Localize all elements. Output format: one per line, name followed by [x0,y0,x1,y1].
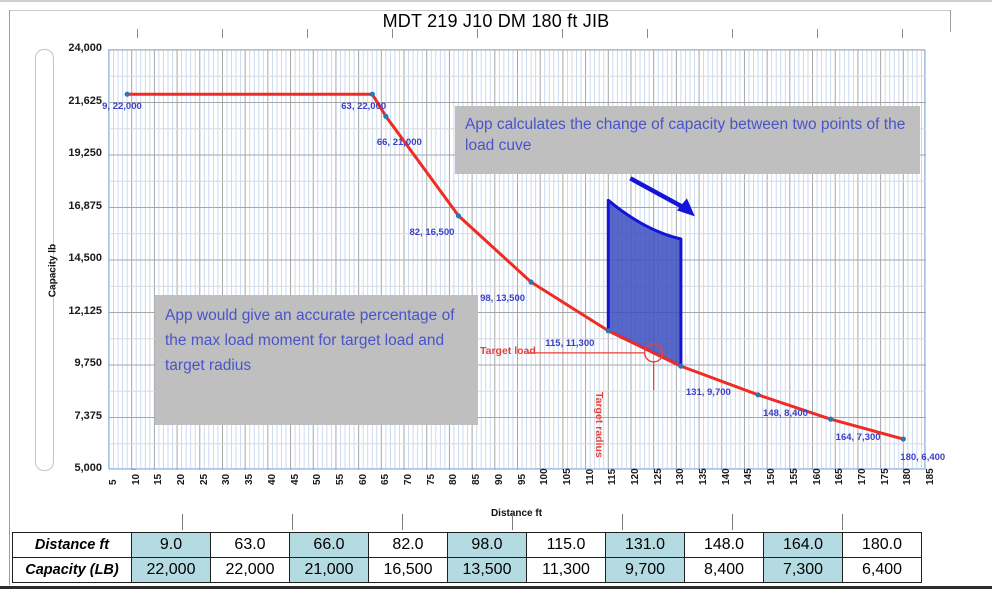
y-axis-tick-label: 21,625 [32,95,102,107]
table-cell: 164.0 [764,533,843,558]
x-axis-tick-label: 50 [312,459,323,485]
table-column-tick [182,514,183,530]
table-cell: 148.0 [685,533,764,558]
data-point-label: 131, 9,700 [686,387,731,398]
y-axis-tick-label: 5,000 [32,462,102,474]
table-column-tick [402,514,403,530]
table-column-tick [292,514,293,530]
x-axis-tick-label: 75 [426,459,437,485]
table-cell: 9,700 [606,558,685,583]
x-axis-tick-label: 150 [766,459,777,485]
x-axis-tick-label: 55 [335,459,346,485]
data-point-label: 82, 16,500 [409,227,454,238]
x-axis-tick-label: 85 [471,459,482,485]
table-cell: 9.0 [132,533,211,558]
callout-percentage: App would give an accurate percentage of… [155,295,478,425]
top-ruler-tick [307,29,308,38]
table-cell: 22,000 [211,558,290,583]
top-ruler-tick [137,29,138,38]
load-chart: MDT 219 J10 DM 180 ft JIB Capacity lb 24… [0,2,992,522]
x-axis-tick-label: 170 [857,459,868,485]
data-point-label: 180, 6,400 [900,452,945,463]
top-ruler-tick [562,29,563,38]
table-column-tick [512,514,513,530]
x-axis-tick-label: 140 [721,459,732,485]
data-table-wrapper: Distance ft9.063.066.082.098.0115.0131.0… [12,532,922,582]
table-cell: 115.0 [527,533,606,558]
x-axis-tick-label: 125 [653,459,664,485]
data-point-label: 164, 7,300 [836,432,881,443]
table-column-tick [622,514,623,530]
table-row: Capacity (LB)22,00022,00021,00016,50013,… [13,558,922,583]
x-axis-tick-label: 160 [812,459,823,485]
x-axis-labels: 5101520253035404550556065707580859095100… [108,472,925,506]
x-axis-tick-label: 5 [108,459,119,485]
y-axis-tick-label: 9,750 [32,357,102,369]
table-cell: 8,400 [685,558,764,583]
x-axis-tick-label: 120 [630,459,641,485]
x-axis-tick-label: 145 [743,459,754,485]
table-cell: 7,300 [764,558,843,583]
top-ruler-tick [647,29,648,38]
table-cell: 16,500 [369,558,448,583]
table-row-header: Distance ft [13,533,132,558]
x-axis-tick-label: 60 [358,459,369,485]
table-cell: 21,000 [290,558,369,583]
x-axis-tick-label: 110 [585,459,596,485]
x-axis-title: Distance ft [108,508,925,519]
table-column-tick [732,514,733,530]
table-cell: 180.0 [843,533,922,558]
x-axis-tick-label: 10 [131,459,142,485]
target-load-label: Target load [480,345,536,357]
window-frame: MDT 219 J10 DM 180 ft JIB Capacity lb 24… [0,0,992,589]
table-cell: 13,500 [448,558,527,583]
x-axis-tick-label: 20 [176,459,187,485]
top-ruler-tick [222,29,223,38]
top-ruler-tick [392,29,393,38]
table-cell: 11,300 [527,558,606,583]
y-axis-tick-label: 16,875 [32,200,102,212]
x-axis-tick-label: 175 [880,459,891,485]
data-point-label: 115, 11,300 [545,338,594,349]
x-axis-tick-label: 15 [153,459,164,485]
x-axis-tick-label: 100 [539,459,550,485]
target-radius-label: Target radius [593,392,605,462]
chart-title: MDT 219 J10 DM 180 ft JIB [0,11,992,32]
y-axis-tick-label: 19,250 [32,147,102,159]
data-point-label: 63, 22,000 [341,101,386,112]
data-point-label: 66, 21,000 [377,137,422,148]
table-row: Distance ft9.063.066.082.098.0115.0131.0… [13,533,922,558]
capacity-table: Distance ft9.063.066.082.098.0115.0131.0… [12,532,922,583]
y-axis-tick-label: 7,375 [32,410,102,422]
top-ruler-tick [732,29,733,38]
table-cell: 131.0 [606,533,685,558]
data-point-label: 98, 13,500 [480,293,525,304]
callout-capacity-change: App calculates the change of capacity be… [455,106,920,174]
y-axis-tick-label: 12,125 [32,305,102,317]
table-cell: 82.0 [369,533,448,558]
table-row-header: Capacity (LB) [13,558,132,583]
x-axis-tick-label: 30 [221,459,232,485]
x-axis-tick-label: 25 [199,459,210,485]
x-axis-tick-label: 95 [517,459,528,485]
table-cell: 63.0 [211,533,290,558]
top-ruler-tick [817,29,818,38]
x-axis-tick-label: 35 [244,459,255,485]
x-axis-tick-label: 155 [789,459,800,485]
y-axis-tick-label: 24,000 [32,42,102,54]
x-axis-tick-label: 90 [494,459,505,485]
table-cell: 22,000 [132,558,211,583]
x-axis-tick-label: 40 [267,459,278,485]
x-axis-tick-label: 135 [698,459,709,485]
x-axis-tick-label: 70 [403,459,414,485]
data-point-label: 148, 8,400 [763,408,808,419]
table-column-tick [842,514,843,530]
x-axis-tick-label: 130 [675,459,686,485]
table-cell: 6,400 [843,558,922,583]
table-cell: 66.0 [290,533,369,558]
table-cell: 98.0 [448,533,527,558]
x-axis-tick-label: 105 [562,459,573,485]
y-axis-labels: 24,00021,62519,25016,87514,50012,1259,75… [28,2,102,522]
top-ruler-tick [902,29,903,38]
data-point-label: 9, 22,000 [102,101,142,112]
top-ruler-tick [477,29,478,38]
x-axis-tick-label: 165 [834,459,845,485]
x-axis-tick-label: 80 [448,459,459,485]
y-axis-tick-label: 14,500 [32,252,102,264]
x-axis-tick-label: 45 [290,459,301,485]
x-axis-tick-label: 115 [607,459,618,485]
x-axis-tick-label: 65 [380,459,391,485]
